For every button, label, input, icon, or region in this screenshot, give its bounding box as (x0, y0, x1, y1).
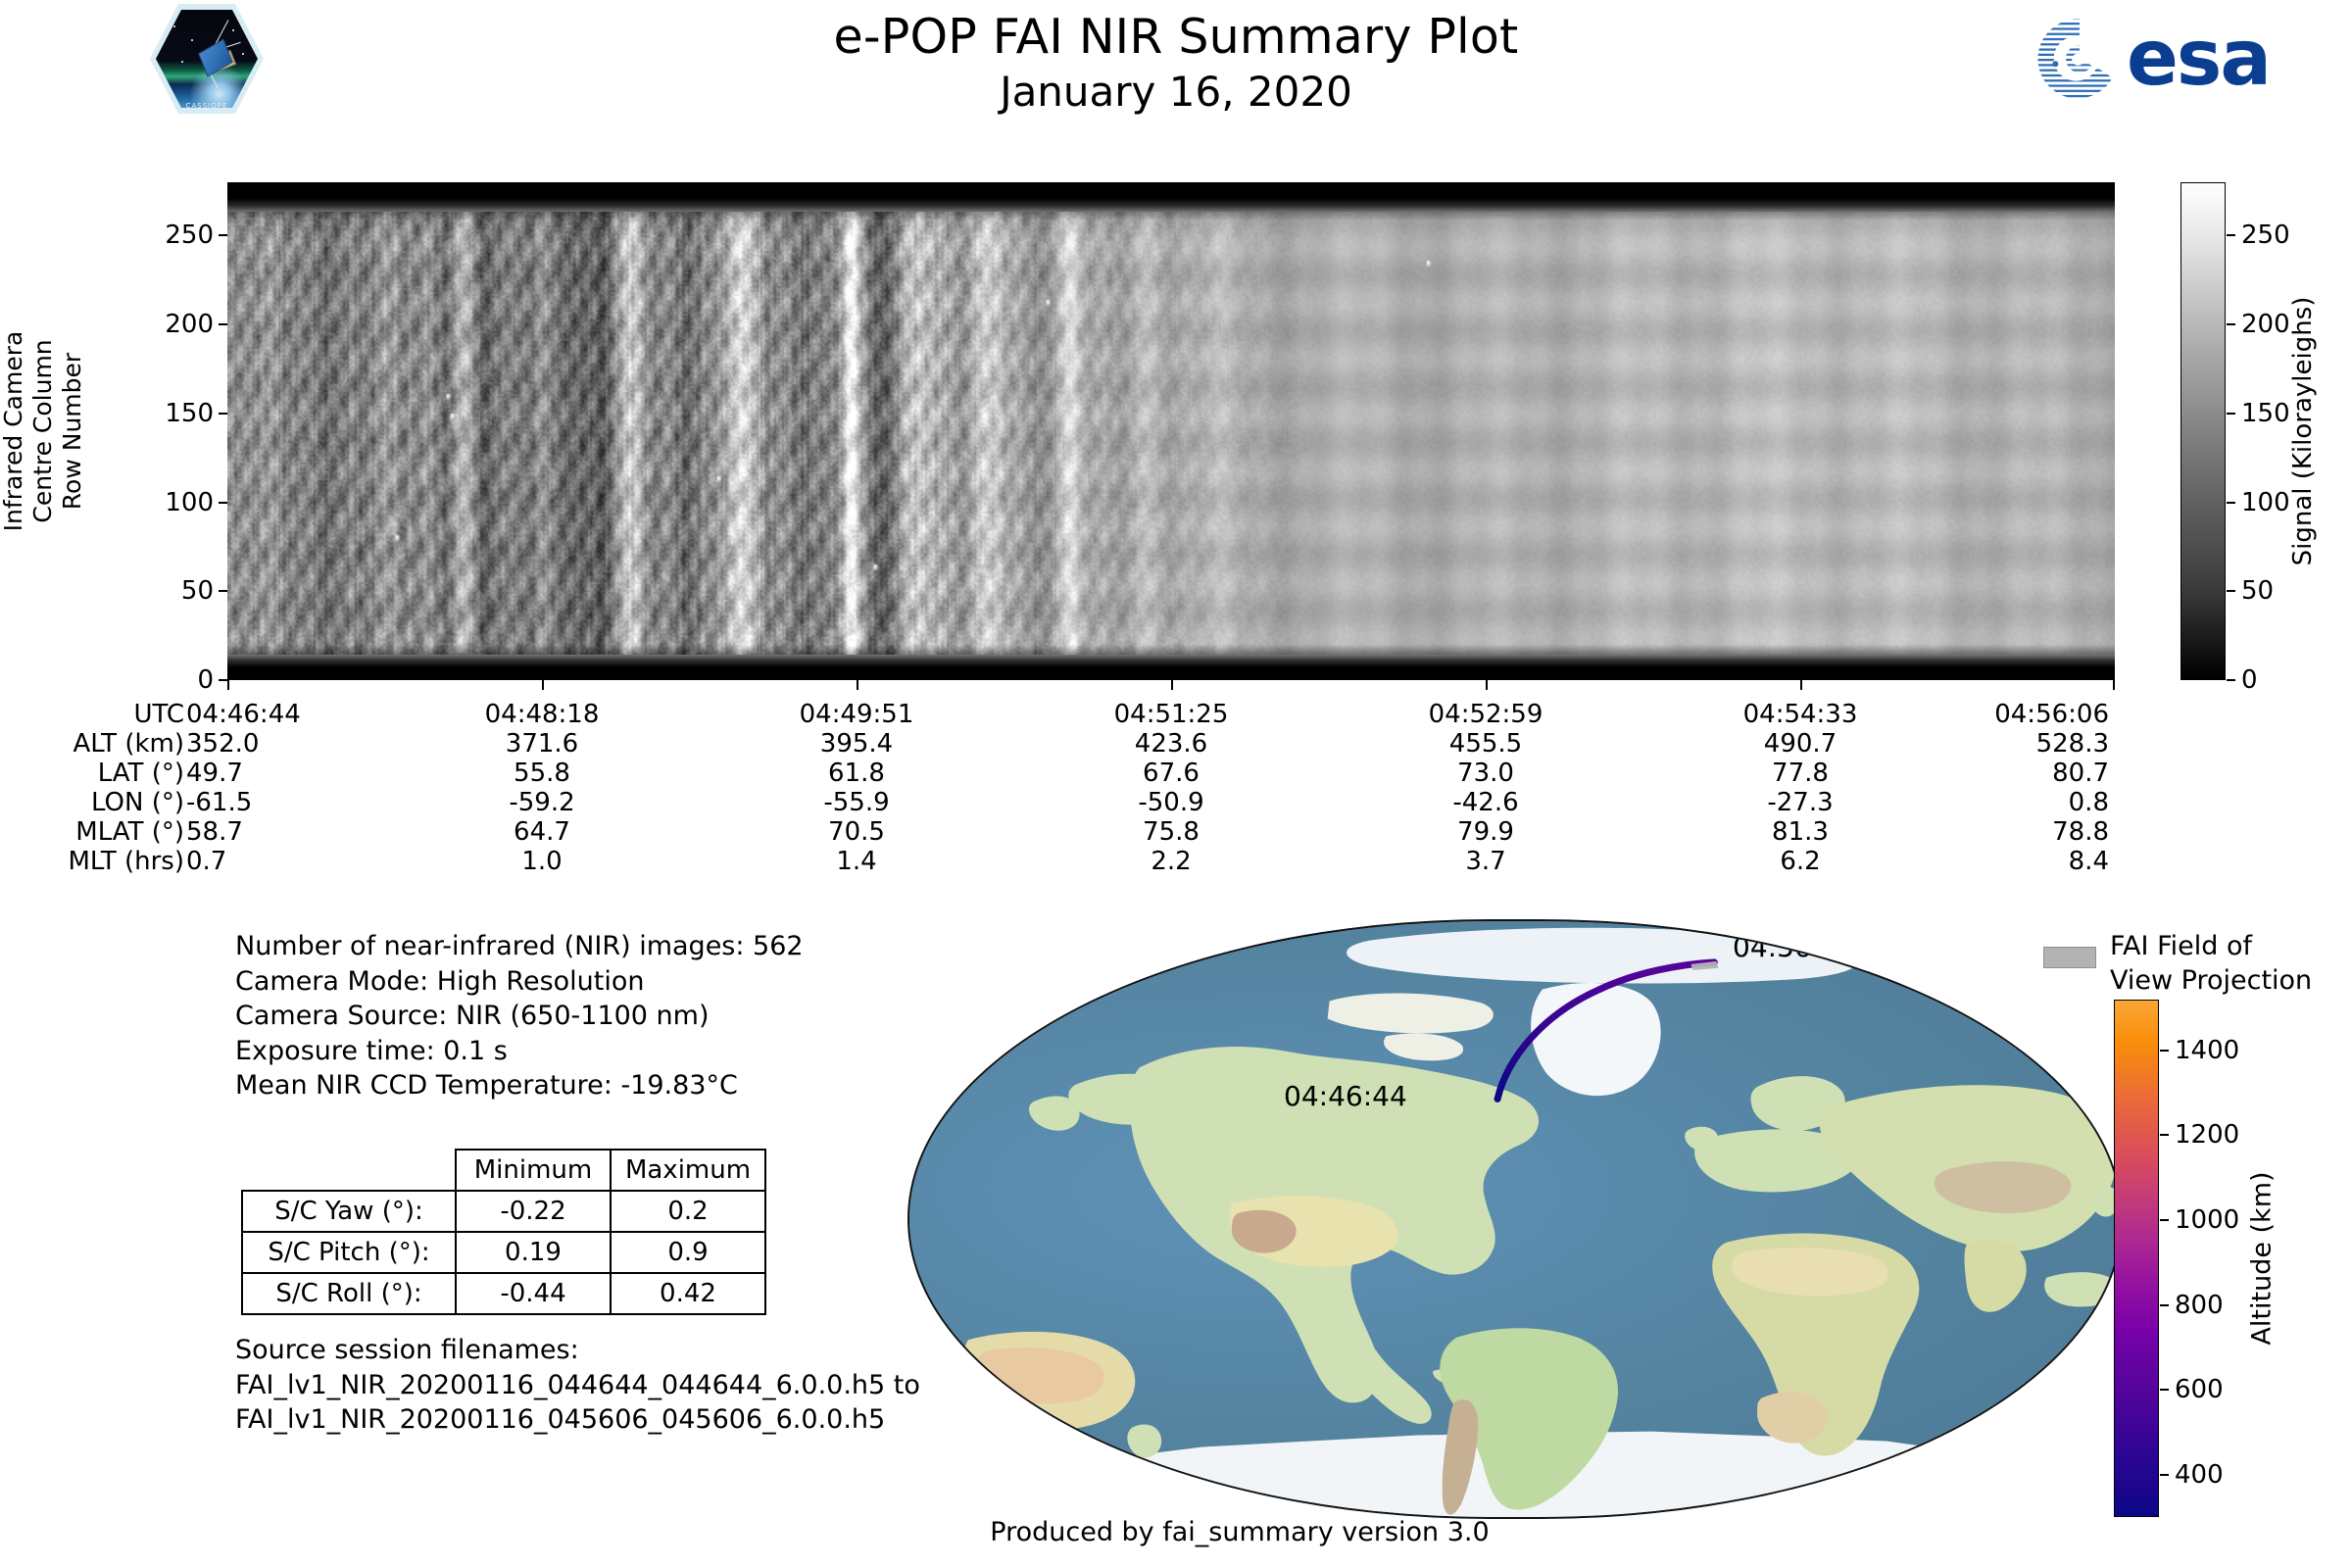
keogram-y-tick-mark (219, 234, 227, 236)
signal-colorbar-tick-mark (2227, 502, 2235, 504)
ephemeris-row: MLT (hrs)0.71.01.42.23.76.28.4 (0, 847, 2352, 876)
ephemeris-cell: 423.6 (1135, 729, 1207, 759)
fov-legend-text: FAI Field of View Projection (2110, 929, 2312, 998)
ephemeris-cell: 81.3 (1772, 817, 1829, 847)
acquisition-info-line: Number of near-infrared (NIR) images: 56… (235, 929, 804, 964)
ephemeris-cell: 455.5 (1449, 729, 1522, 759)
ephemeris-cell: 8.4 (2069, 847, 2109, 876)
altitude-colorbar-tick-mark (2160, 1050, 2169, 1052)
keogram-panel[interactable] (227, 182, 2115, 680)
attitude-row-label: S/C Roll (°): (242, 1273, 456, 1314)
acquisition-info-line: Camera Source: NIR (650-1100 nm) (235, 999, 804, 1034)
signal-colorbar-tick-mark (2227, 413, 2235, 415)
ephemeris-cell: 79.9 (1457, 817, 1514, 847)
page-title: e-POP FAI NIR Summary Plot (0, 8, 2352, 67)
keogram-x-tick-mark (227, 680, 229, 690)
attitude-row-label: S/C Yaw (°): (242, 1191, 456, 1232)
ephemeris-row: LAT (°)49.755.861.867.673.077.880.7 (0, 759, 2352, 788)
ephemeris-cell: -59.2 (509, 788, 574, 817)
keogram-x-tick-mark (857, 680, 858, 690)
altitude-colorbar-title: Altitude (km) (2247, 1053, 2278, 1464)
fov-legend-swatch (2043, 947, 2096, 968)
ephemeris-cell: 2.2 (1151, 847, 1191, 876)
ephemeris-row-label: ALT (km) (0, 729, 184, 759)
ephemeris-table: UTC04:46:4404:48:1804:49:5104:51:2504:52… (0, 700, 2352, 876)
ephemeris-cell: -50.9 (1138, 788, 1203, 817)
source-filename-first: FAI_lv1_NIR_20200116_044644_044644_6.0.0… (235, 1368, 920, 1403)
ephemeris-cell: 78.8 (2052, 817, 2109, 847)
keogram-y-tick-label: 200 (165, 310, 214, 339)
keogram-y-tick-label: 0 (197, 665, 214, 695)
altitude-colorbar-tick-label: 1400 (2175, 1036, 2239, 1065)
attitude-header-row: MinimumMaximum (242, 1150, 765, 1191)
ephemeris-cell: 04:48:18 (485, 700, 600, 729)
track-end-time-label: 04:56:06 (1733, 931, 1856, 963)
altitude-colorbar-tick-label: 400 (2175, 1460, 2224, 1490)
fov-legend-line1: FAI Field of (2110, 929, 2312, 963)
keogram-y-tick-label: 100 (165, 488, 214, 517)
keogram-bottom-dark-band (227, 655, 2115, 680)
acquisition-info-line: Camera Mode: High Resolution (235, 964, 804, 1000)
ephemeris-cell: -27.3 (1767, 788, 1833, 817)
ephemeris-cell: 04:54:33 (1743, 700, 1858, 729)
ephemeris-cell: 55.8 (514, 759, 570, 788)
altitude-colorbar-tick-mark (2160, 1219, 2169, 1221)
attitude-column-header: Minimum (456, 1150, 611, 1191)
attitude-row-label: S/C Pitch (°): (242, 1232, 456, 1273)
attitude-value-cell: -0.44 (456, 1273, 611, 1314)
ephemeris-row-label: UTC (0, 700, 184, 729)
attitude-row: S/C Pitch (°):0.190.9 (242, 1232, 765, 1273)
ephemeris-cell: 0.7 (186, 847, 226, 876)
signal-colorbar-tick-label: 0 (2241, 665, 2258, 695)
attitude-corner-cell (242, 1150, 456, 1191)
ephemeris-cell: 64.7 (514, 817, 570, 847)
ephemeris-cell: 04:51:25 (1114, 700, 1229, 729)
keogram-image (227, 182, 2115, 680)
keogram-x-tick-mark (542, 680, 544, 690)
attitude-row: S/C Roll (°):-0.440.42 (242, 1273, 765, 1314)
page-subtitle-date: January 16, 2020 (0, 67, 2352, 118)
altitude-colorbar-tick-label: 600 (2175, 1375, 2224, 1404)
signal-colorbar-tick-mark (2227, 323, 2235, 325)
ephemeris-row: UTC04:46:4404:48:1804:49:5104:51:2504:52… (0, 700, 2352, 729)
altitude-colorbar-tick-mark (2160, 1474, 2169, 1476)
signal-colorbar (2180, 182, 2226, 680)
ephemeris-cell: 1.4 (836, 847, 876, 876)
ephemeris-cell: 3.7 (1465, 847, 1505, 876)
esa-wordmark: esa (2127, 18, 2270, 100)
acquisition-info: Number of near-infrared (NIR) images: 56… (235, 929, 804, 1103)
keogram-y-tick-label: 50 (181, 576, 214, 606)
ephemeris-cell: 490.7 (1764, 729, 1837, 759)
attitude-value-cell: 0.42 (611, 1273, 765, 1314)
altitude-colorbar-tick-mark (2160, 1389, 2169, 1391)
ephemeris-cell: 49.7 (186, 759, 243, 788)
signal-colorbar-title: Signal (Kilorayleighs) (2288, 216, 2318, 647)
ephemeris-row: MLAT (°)58.764.770.575.879.981.378.8 (0, 817, 2352, 847)
keogram-x-tick-mark (2113, 680, 2115, 690)
fov-legend-line2: View Projection (2110, 963, 2312, 998)
ephemeris-cell: -42.6 (1452, 788, 1518, 817)
ephemeris-cell: 352.0 (186, 729, 259, 759)
keogram-top-dark-band (227, 182, 2115, 212)
keogram-x-tick-mark (1171, 680, 1173, 690)
signal-colorbar-tick-label: 50 (2241, 576, 2274, 606)
footer-text: Produced by fai_summary version 3.0 (990, 1517, 1489, 1547)
ephemeris-cell: 04:49:51 (800, 700, 914, 729)
ephemeris-cell: -61.5 (186, 788, 252, 817)
keogram-y-tick-mark (219, 590, 227, 592)
keogram-x-tick-mark (1800, 680, 1802, 690)
signal-colorbar-title-wrap: Signal (Kilorayleighs) (2283, 182, 2323, 680)
keogram-y-tick-label: 250 (165, 220, 214, 250)
ephemeris-cell: 61.8 (828, 759, 885, 788)
source-filenames: Source session filenames: FAI_lv1_NIR_20… (235, 1333, 920, 1438)
source-filenames-heading: Source session filenames: (235, 1333, 920, 1368)
ephemeris-row: ALT (km)352.0371.6395.4423.6455.5490.752… (0, 729, 2352, 759)
ephemeris-cell: 70.5 (828, 817, 885, 847)
ephemeris-cell: 371.6 (506, 729, 578, 759)
attitude-value-cell: 0.2 (611, 1191, 765, 1232)
attitude-column-header: Maximum (611, 1150, 765, 1191)
ephemeris-cell: 1.0 (521, 847, 562, 876)
source-filename-last: FAI_lv1_NIR_20200116_045606_045606_6.0.0… (235, 1402, 920, 1438)
esa-emblem-icon (2036, 16, 2123, 102)
ephemeris-cell: -55.9 (823, 788, 889, 817)
keogram-y-tick-label: 150 (165, 399, 214, 428)
satellite-ground-track (909, 921, 2121, 1519)
ephemeris-row: LON (°)-61.5-59.2-55.9-50.9-42.6-27.30.8 (0, 788, 2352, 817)
attitude-value-cell: -0.22 (456, 1191, 611, 1232)
ephemeris-cell: 0.8 (2069, 788, 2109, 817)
ephemeris-cell: 58.7 (186, 817, 243, 847)
ephemeris-row-label: MLT (hrs) (0, 847, 184, 876)
ephemeris-row-label: LAT (°) (0, 759, 184, 788)
keogram-x-tick-mark (1486, 680, 1488, 690)
world-globe: 04:46:44 04:56:06 (907, 919, 2123, 1519)
altitude-colorbar-tick-mark (2160, 1304, 2169, 1306)
altitude-colorbar-tick-label: 1000 (2175, 1205, 2239, 1235)
ephemeris-cell: 04:56:06 (1994, 700, 2109, 729)
esa-logo: esa (2036, 14, 2330, 104)
attitude-value-cell: 0.9 (611, 1232, 765, 1273)
altitude-colorbar-tick-label: 1200 (2175, 1120, 2239, 1150)
attitude-row: S/C Yaw (°):-0.220.2 (242, 1191, 765, 1232)
keogram-y-axis: Infrared CameraCentre ColumnRow Number 0… (0, 182, 227, 680)
signal-colorbar-tick-mark (2227, 679, 2235, 681)
signal-colorbar-tick-mark (2227, 590, 2235, 592)
altitude-colorbar-title-wrap: Altitude (km) (2242, 1000, 2281, 1517)
altitude-colorbar-tick-mark (2160, 1134, 2169, 1136)
page-title-block: e-POP FAI NIR Summary Plot January 16, 2… (0, 8, 2352, 118)
footer: Produced by fai_summary version 3.0 (0, 1517, 2352, 1547)
ephemeris-cell: 04:46:44 (186, 700, 301, 729)
acquisition-info-line: Exposure time: 0.1 s (235, 1034, 804, 1069)
keogram-y-tick-mark (219, 679, 227, 681)
ephemeris-cell: 67.6 (1143, 759, 1200, 788)
ephemeris-row-label: LON (°) (0, 788, 184, 817)
acquisition-info-line: Mean NIR CCD Temperature: -19.83°C (235, 1068, 804, 1103)
summary-plot-page: CASSIOPE e-POP FAI NIR Summary Plot Janu… (0, 0, 2352, 1568)
ephemeris-cell: 6.2 (1780, 847, 1820, 876)
track-start-time-label: 04:46:44 (1284, 1080, 1407, 1112)
attitude-value-cell: 0.19 (456, 1232, 611, 1273)
ephemeris-cell: 395.4 (820, 729, 893, 759)
spacecraft-attitude-table: MinimumMaximumS/C Yaw (°):-0.220.2S/C Pi… (241, 1149, 766, 1315)
ephemeris-cell: 73.0 (1457, 759, 1514, 788)
ephemeris-row-label: MLAT (°) (0, 817, 184, 847)
ephemeris-cell: 77.8 (1772, 759, 1829, 788)
ground-track-map[interactable]: 04:46:44 04:56:06 (907, 919, 2123, 1519)
altitude-colorbar-tick-label: 800 (2175, 1291, 2224, 1320)
ephemeris-cell: 528.3 (2036, 729, 2109, 759)
ephemeris-cell: 75.8 (1143, 817, 1200, 847)
keogram-y-tick-mark (219, 323, 227, 325)
signal-colorbar-tick-mark (2227, 234, 2235, 236)
keogram-y-tick-mark (219, 413, 227, 415)
ephemeris-cell: 80.7 (2052, 759, 2109, 788)
keogram-y-axis-label: Infrared CameraCentre ColumnRow Number (0, 225, 87, 637)
ephemeris-cell: 04:52:59 (1429, 700, 1543, 729)
keogram-y-tick-mark (219, 502, 227, 504)
altitude-colorbar (2114, 1000, 2159, 1517)
